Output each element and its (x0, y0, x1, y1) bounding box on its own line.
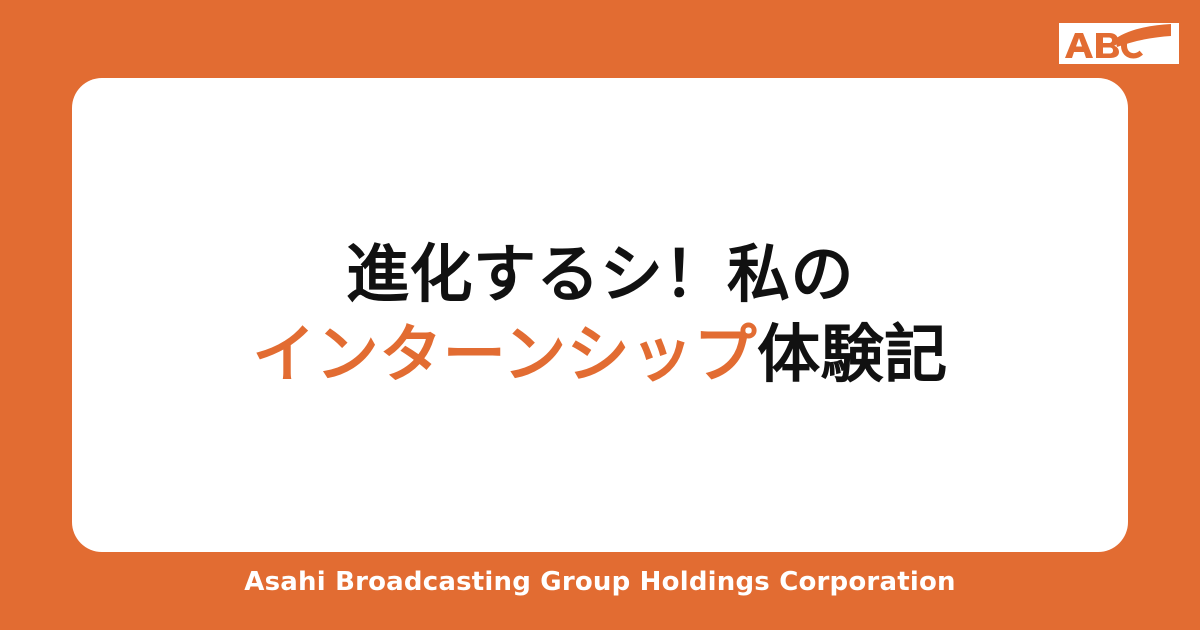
abc-logo-mark (1059, 23, 1179, 64)
content-card: 進化するシ！私の インターンシップ体験記 (72, 78, 1128, 552)
footer: Asahi Broadcasting Group Holdings Corpor… (0, 562, 1200, 602)
logo-letter-a (1065, 33, 1093, 58)
title-accent-segment: インターンシップ (252, 318, 757, 391)
page-title: 進化するシ！私の インターンシップ体験記 (72, 235, 1128, 395)
company-name: Asahi Broadcasting Group Holdings Corpor… (244, 567, 955, 597)
title-line-1: 進化するシ！私の (96, 235, 1104, 315)
abc-logo (1059, 23, 1179, 64)
logo-letter-b (1096, 33, 1119, 58)
logo-letter-c (1121, 33, 1143, 59)
title-line-2: インターンシップ体験記 (96, 315, 1104, 395)
og-image-canvas: 進化するシ！私の インターンシップ体験記 Asahi Broadcasting … (0, 0, 1200, 630)
title-plain-segment: 体験記 (757, 318, 948, 391)
